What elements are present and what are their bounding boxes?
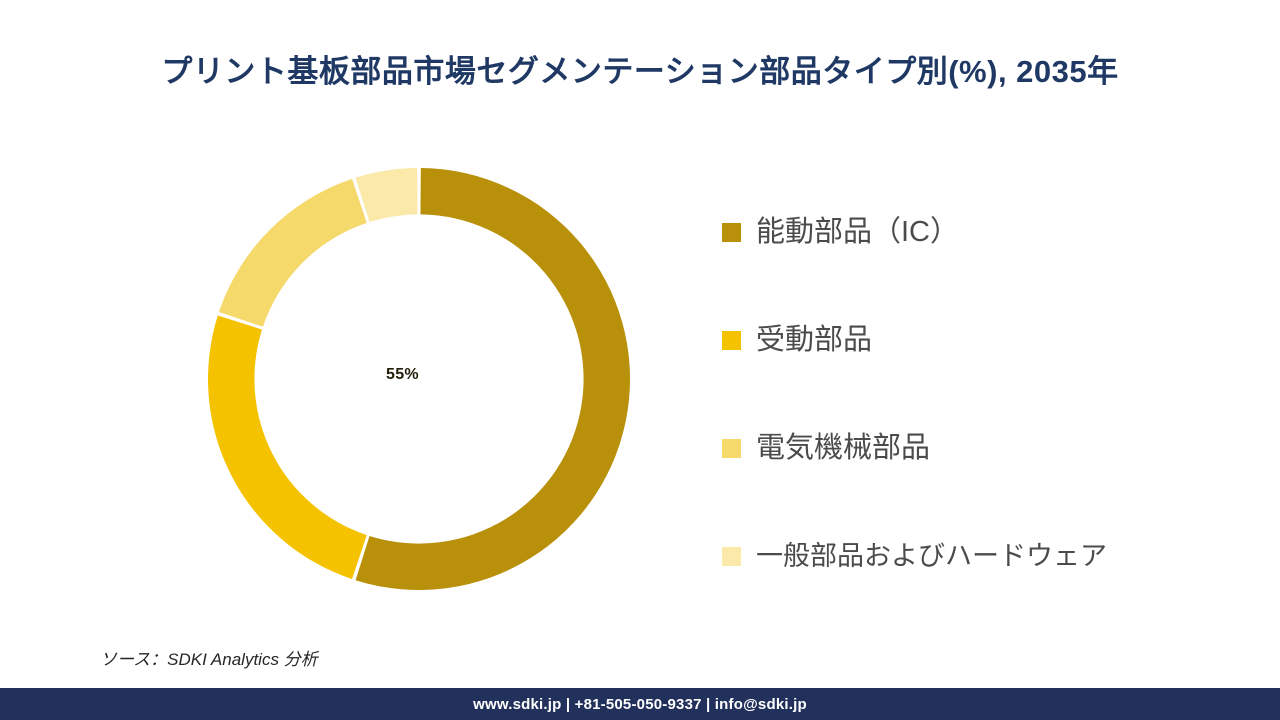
donut-slice[interactable] xyxy=(208,316,367,580)
legend-item-label: 受動部品 xyxy=(756,323,872,357)
legend-swatch-icon xyxy=(722,547,741,566)
chart-page: プリント基板部品市場セグメンテーション部品タイプ別(%), 2035年 55% … xyxy=(0,0,1280,720)
legend-item-label: 能動部品（IC） xyxy=(756,215,959,249)
chart-legend: 能動部品（IC） 受動部品 電気機械部品 一般部品およびハードウェア xyxy=(722,178,1267,610)
legend-item-label: 一般部品およびハードウェア xyxy=(756,539,1107,573)
legend-item-active-components[interactable]: 能動部品（IC） xyxy=(722,178,1267,286)
donut-slice[interactable] xyxy=(356,168,418,222)
legend-item-passive-components[interactable]: 受動部品 xyxy=(722,286,1267,394)
donut-chart-svg xyxy=(208,168,630,590)
legend-item-general-components-hardware[interactable]: 一般部品およびハードウェア xyxy=(722,502,1267,610)
donut-slice[interactable] xyxy=(219,179,367,327)
source-note: ソース：SDKI Analytics 分析 xyxy=(100,645,318,670)
legend-swatch-icon xyxy=(722,223,741,242)
donut-slice-group xyxy=(208,168,630,590)
legend-item-label: 電気機械部品 xyxy=(756,431,930,465)
legend-item-electromechanical-components[interactable]: 電気機械部品 xyxy=(722,394,1267,502)
footer-bar: www.sdki.jp | +81-505-050-9337 | info@sd… xyxy=(0,688,1280,720)
legend-swatch-icon xyxy=(722,439,741,458)
footer-contact-text: www.sdki.jp | +81-505-050-9337 | info@sd… xyxy=(473,696,807,713)
legend-swatch-icon xyxy=(722,331,741,350)
slice-data-label: 55% xyxy=(386,366,419,384)
page-title: プリント基板部品市場セグメンテーション部品タイプ別(%), 2035年 xyxy=(0,50,1280,94)
donut-chart: 55% xyxy=(208,168,630,590)
